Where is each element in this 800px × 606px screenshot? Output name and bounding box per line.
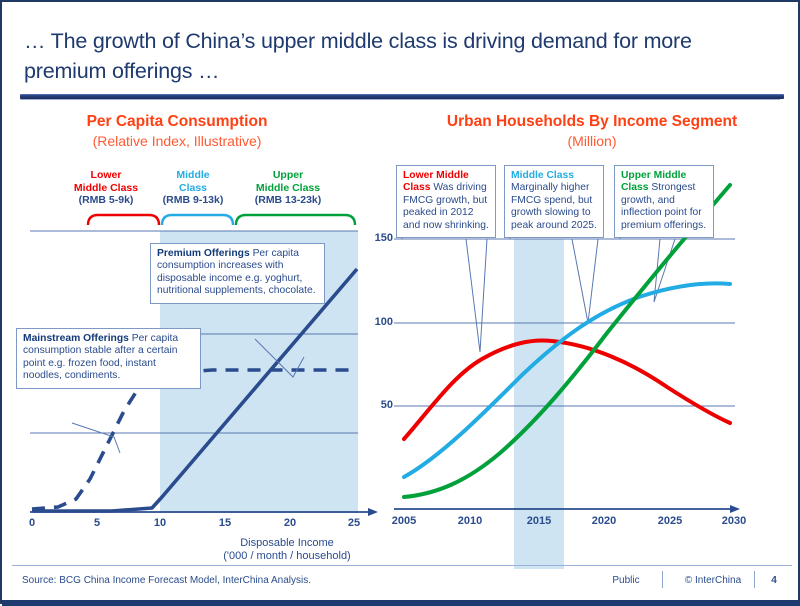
left-chart-subtitle: (Relative Index, Illustrative): [12, 132, 342, 150]
callout-upper-middle-class[interactable]: Upper Middle Class Strongest growth, and…: [614, 165, 714, 238]
right-ytick-100: 100: [367, 316, 393, 328]
footer-separator-2: [754, 571, 755, 588]
left-xtick-20: 20: [278, 517, 302, 529]
segment-label-middle-class: Middle Class (RMB 9-13k): [147, 169, 239, 207]
segment-lower-range: (RMB 5-9k): [79, 194, 134, 206]
callout-lower-middle-class[interactable]: Lower Middle Class Was driving FMCG grow…: [396, 165, 496, 238]
slide-canvas: … The growth of China’s upper middle cla…: [0, 0, 800, 604]
footer-separator-1: [662, 571, 663, 588]
classification-label: Public: [606, 575, 646, 586]
segment-upper-line2: Middle Class: [256, 182, 320, 194]
callout-middle-body: Marginally higher FMCG spend, but growth…: [511, 182, 597, 230]
left-chart-panel: Per Capita Consumption (Relative Index, …: [12, 107, 387, 557]
bracket-lower-middle-class: [88, 215, 159, 225]
page-title: … The growth of China’s upper middle cla…: [24, 26, 704, 86]
callout-mainstream-heading: Mainstream Offerings: [23, 333, 132, 344]
copyright-label: © InterChina: [678, 575, 748, 586]
left-x-axis-caption: Disposable Income ('000 / month / househ…: [197, 537, 377, 563]
right-xtick-2005: 2005: [384, 515, 424, 527]
right-chart-subtitle: (Million): [392, 132, 792, 150]
right-chart-title: Urban Households By Income Segment: [392, 112, 792, 131]
right-xtick-2010: 2010: [450, 515, 490, 527]
mainstream-callout-leader: [72, 423, 120, 453]
segment-middle-line1: Middle: [176, 169, 209, 181]
bottom-accent-bar: [2, 600, 800, 606]
left-xtick-25: 25: [342, 517, 366, 529]
right-ytick-150: 150: [367, 232, 393, 244]
segment-lower-line1: Lower: [91, 169, 122, 181]
callout-premium-heading: Premium Offerings: [157, 248, 253, 259]
left-x-axis-arrow: [368, 508, 378, 516]
bracket-middle-class: [162, 215, 233, 225]
right-chart-panel: Urban Households By Income Segment (Mill…: [392, 107, 792, 557]
right-ytick-50: 50: [367, 399, 393, 411]
segment-upper-line1: Upper: [273, 169, 303, 181]
left-x-axis-caption-line1: Disposable Income: [240, 537, 334, 549]
callout-middle-class[interactable]: Middle Class Marginally higher FMCG spen…: [504, 165, 604, 238]
left-chart-title: Per Capita Consumption: [12, 112, 342, 131]
callout-middle-heading: Middle Class: [511, 170, 574, 181]
callout-mainstream-offerings[interactable]: Mainstream Offerings Per capita consumpt…: [16, 328, 201, 389]
segment-middle-range: (RMB 9-13k): [163, 194, 224, 206]
segment-middle-line2: Class: [179, 182, 207, 194]
segment-lower-line2: Middle Class: [74, 182, 138, 194]
left-xtick-15: 15: [213, 517, 237, 529]
lower-middle-class-line: [404, 341, 730, 439]
callout-premium-offerings[interactable]: Premium Offerings Per capita consumption…: [150, 243, 325, 304]
title-divider: [20, 94, 784, 99]
right-xtick-2030: 2030: [714, 515, 754, 527]
left-xtick-0: 0: [20, 517, 44, 529]
page-number: 4: [764, 575, 784, 586]
segment-upper-range: (RMB 13-23k): [255, 194, 322, 206]
left-x-axis-caption-line2: ('000 / month / household): [223, 550, 350, 562]
source-note: Source: BCG China Income Forecast Model,…: [22, 575, 311, 586]
segment-label-lower-middle-class: Lower Middle Class (RMB 5-9k): [60, 169, 152, 207]
left-xtick-10: 10: [148, 517, 172, 529]
footer: Source: BCG China Income Forecast Model,…: [2, 568, 800, 602]
right-xtick-2015: 2015: [519, 515, 559, 527]
left-xtick-5: 5: [85, 517, 109, 529]
footer-divider: [12, 565, 792, 566]
right-xtick-2025: 2025: [650, 515, 690, 527]
right-x-axis-arrow: [730, 505, 740, 513]
right-xtick-2020: 2020: [584, 515, 624, 527]
segment-label-upper-middle-class: Upper Middle Class (RMB 13-23k): [234, 169, 342, 207]
bracket-upper-middle-class: [236, 215, 355, 225]
